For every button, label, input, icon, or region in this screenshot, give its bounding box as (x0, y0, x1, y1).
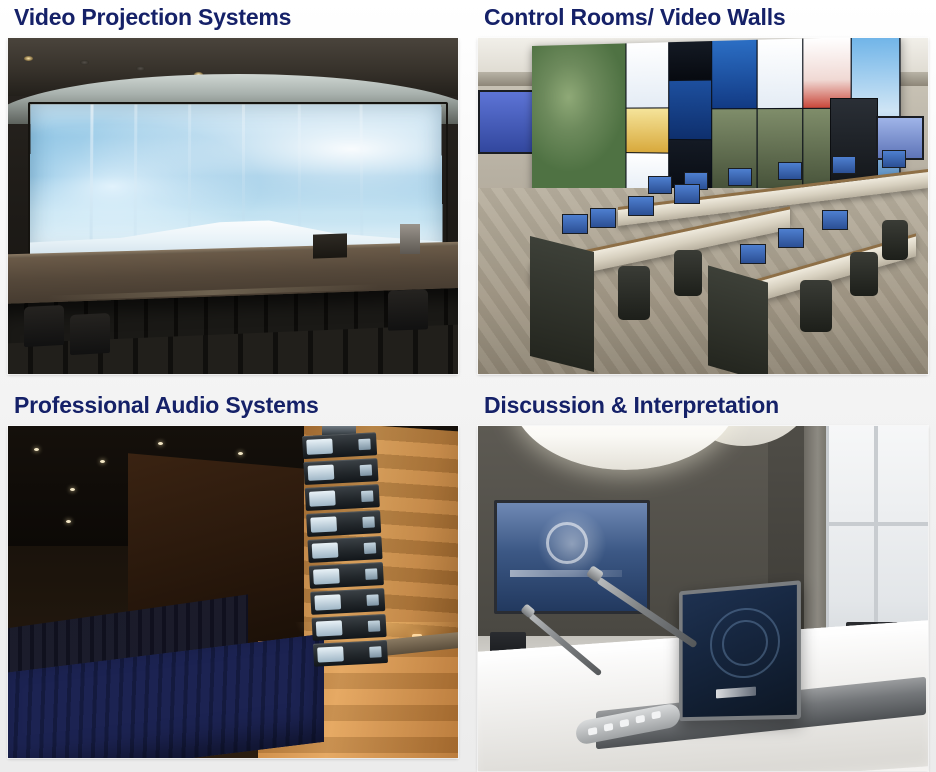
grid-cell-video-projection[interactable]: Video Projection Systems (0, 0, 468, 386)
line-array-element (303, 458, 378, 485)
operator-monitor (882, 150, 906, 168)
ceiling-spotlight-icon (136, 66, 145, 71)
grid-cell-control-rooms[interactable]: Control Rooms/ Video Walls (468, 0, 936, 386)
video-wall-tile-document (757, 39, 802, 109)
photo-professional-audio[interactable] (8, 426, 458, 758)
video-wall-tile-dark (669, 41, 711, 81)
photo-control-rooms[interactable] (478, 38, 928, 374)
solutions-grid: Video Projection Systems (0, 0, 936, 772)
operator-monitor (778, 162, 802, 180)
operator-monitor (740, 244, 766, 264)
operator-chair (618, 266, 650, 320)
video-wall-tile-video (712, 109, 756, 200)
stage-podium (313, 233, 347, 258)
operator-monitor (648, 176, 672, 194)
line-array-element (306, 510, 381, 537)
auditorium-chair (388, 289, 428, 330)
operator-monitor (562, 214, 588, 234)
line-array-element (310, 588, 385, 615)
heading-professional-audio: Professional Audio Systems (14, 390, 458, 420)
operator-monitor (728, 168, 752, 186)
display-logo-icon (546, 522, 588, 564)
grid-cell-discussion-interpretation[interactable]: Discussion & Interpretation (468, 386, 936, 772)
operator-monitor (674, 184, 700, 204)
display-caption (510, 570, 622, 577)
line-array-element (312, 614, 387, 641)
stage-lectern (400, 224, 420, 254)
operator-monitor (832, 156, 856, 174)
heading-control-rooms: Control Rooms/ Video Walls (484, 2, 926, 32)
line-array-element (305, 484, 380, 511)
line-array-element (302, 432, 377, 459)
video-wall-tile-dashboard (669, 81, 711, 140)
line-array-element (309, 562, 384, 589)
operator-monitor (778, 228, 804, 248)
video-wall-tile-map (532, 43, 626, 196)
line-array-element (313, 640, 388, 667)
photo-video-projection[interactable] (8, 38, 458, 374)
operator-chair (882, 220, 908, 260)
video-wall-tile-document (627, 42, 668, 109)
operator-chair (674, 250, 702, 296)
operator-monitor (590, 208, 616, 228)
auditorium-chair (70, 313, 110, 355)
operator-chair (850, 252, 878, 296)
line-array-element (307, 536, 382, 563)
grid-cell-professional-audio[interactable]: Professional Audio Systems (0, 386, 468, 772)
ceiling-spotlight-icon (24, 56, 33, 61)
video-wall-tile-dashboard (712, 40, 756, 109)
operator-monitor (822, 210, 848, 230)
video-wall-tile-chart (627, 109, 668, 154)
operator-chair (800, 280, 832, 332)
auditorium-chair (24, 305, 64, 347)
operator-monitor (628, 196, 654, 216)
desk-privacy-panel (530, 236, 594, 372)
heading-discussion-interpretation: Discussion & Interpretation (484, 390, 926, 420)
desk-privacy-panel (708, 265, 768, 374)
photo-discussion-interpretation[interactable] (478, 426, 928, 771)
heading-video-projection: Video Projection Systems (14, 2, 458, 32)
side-display (478, 90, 534, 154)
screen-frame (28, 102, 448, 262)
ceiling-spotlight-icon (80, 60, 89, 65)
line-array-speaker-cluster (302, 432, 388, 666)
